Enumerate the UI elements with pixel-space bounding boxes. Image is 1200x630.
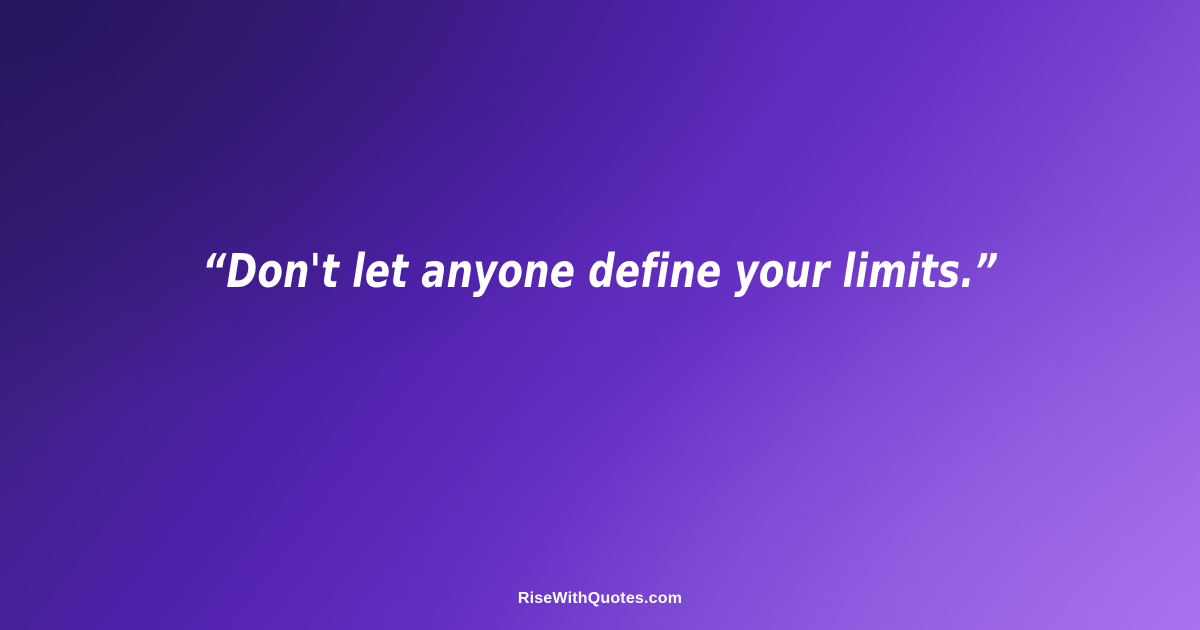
quote-card: “Don't let anyone define your limits.” R… <box>0 0 1200 630</box>
quote-container: “Don't let anyone define your limits.” <box>0 0 1200 630</box>
footer-brand-label: RiseWithQuotes.com <box>0 590 1200 608</box>
quote-text: “Don't let anyone define your limits.” <box>202 243 998 299</box>
